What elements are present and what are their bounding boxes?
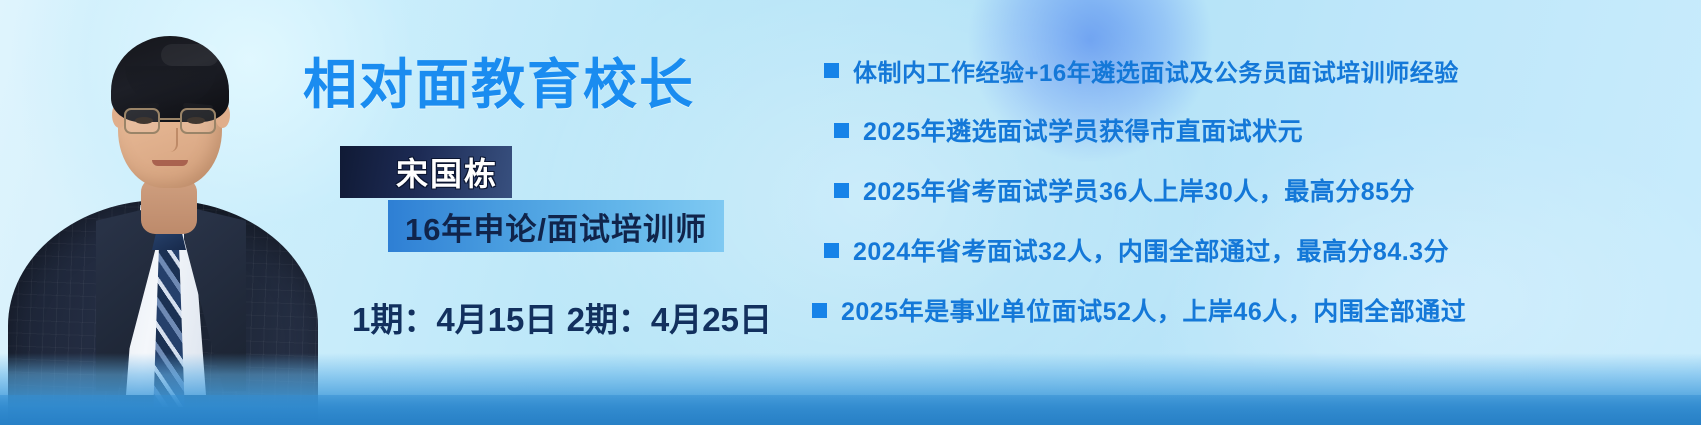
list-item: 2025年省考面试学员36人上岸30人，最高分85分 (812, 160, 1692, 220)
square-bullet-icon (812, 303, 827, 318)
instructor-name-label: 宋国栋 (396, 149, 498, 195)
list-item: 2025年是事业单位面试52人，上岸46人，内围全部通过 (812, 280, 1692, 340)
list-item: 2024年省考面试32人，内围全部通过，最高分84.3分 (812, 220, 1692, 280)
square-bullet-icon (834, 123, 849, 138)
instructor-name-badge: 宋国栋 (340, 146, 512, 198)
nose-shape (162, 128, 178, 152)
credentials-list: 体制内工作经验+16年遴选面试及公务员面试培训师经验 2025年遴选面试学员获得… (812, 40, 1692, 340)
list-item-label: 2025年遴选面试学员获得市直面试状元 (863, 112, 1303, 148)
instructor-role-badge: 16年申论/面试培训师 (388, 200, 724, 252)
list-item-label: 2025年是事业单位面试52人，上岸46人，内围全部通过 (841, 292, 1466, 328)
list-item-label: 2024年省考面试32人，内围全部通过，最高分84.3分 (853, 232, 1449, 268)
list-item: 体制内工作经验+16年遴选面试及公务员面试培训师经验 (812, 40, 1692, 100)
mouth-shape (152, 160, 188, 166)
instructor-role-label: 16年申论/面试培训师 (405, 204, 707, 249)
list-item: 2025年遴选面试学员获得市直面试状元 (812, 100, 1692, 160)
square-bullet-icon (824, 63, 839, 78)
page-title: 相对面教育校长 (303, 40, 695, 119)
promo-banner: 相对面教育校长 宋国栋 16年申论/面试培训师 1期：4月15日 2期：4月25… (0, 0, 1701, 425)
square-bullet-icon (824, 243, 839, 258)
list-item-label: 体制内工作经验+16年遴选面试及公务员面试培训师经验 (853, 53, 1459, 88)
square-bullet-icon (834, 183, 849, 198)
session-dates: 1期：4月15日 2期：4月25日 (352, 293, 772, 341)
list-item-label: 2025年省考面试学员36人上岸30人，最高分85分 (863, 172, 1415, 208)
bottom-gradient-band-dark (0, 395, 1701, 425)
